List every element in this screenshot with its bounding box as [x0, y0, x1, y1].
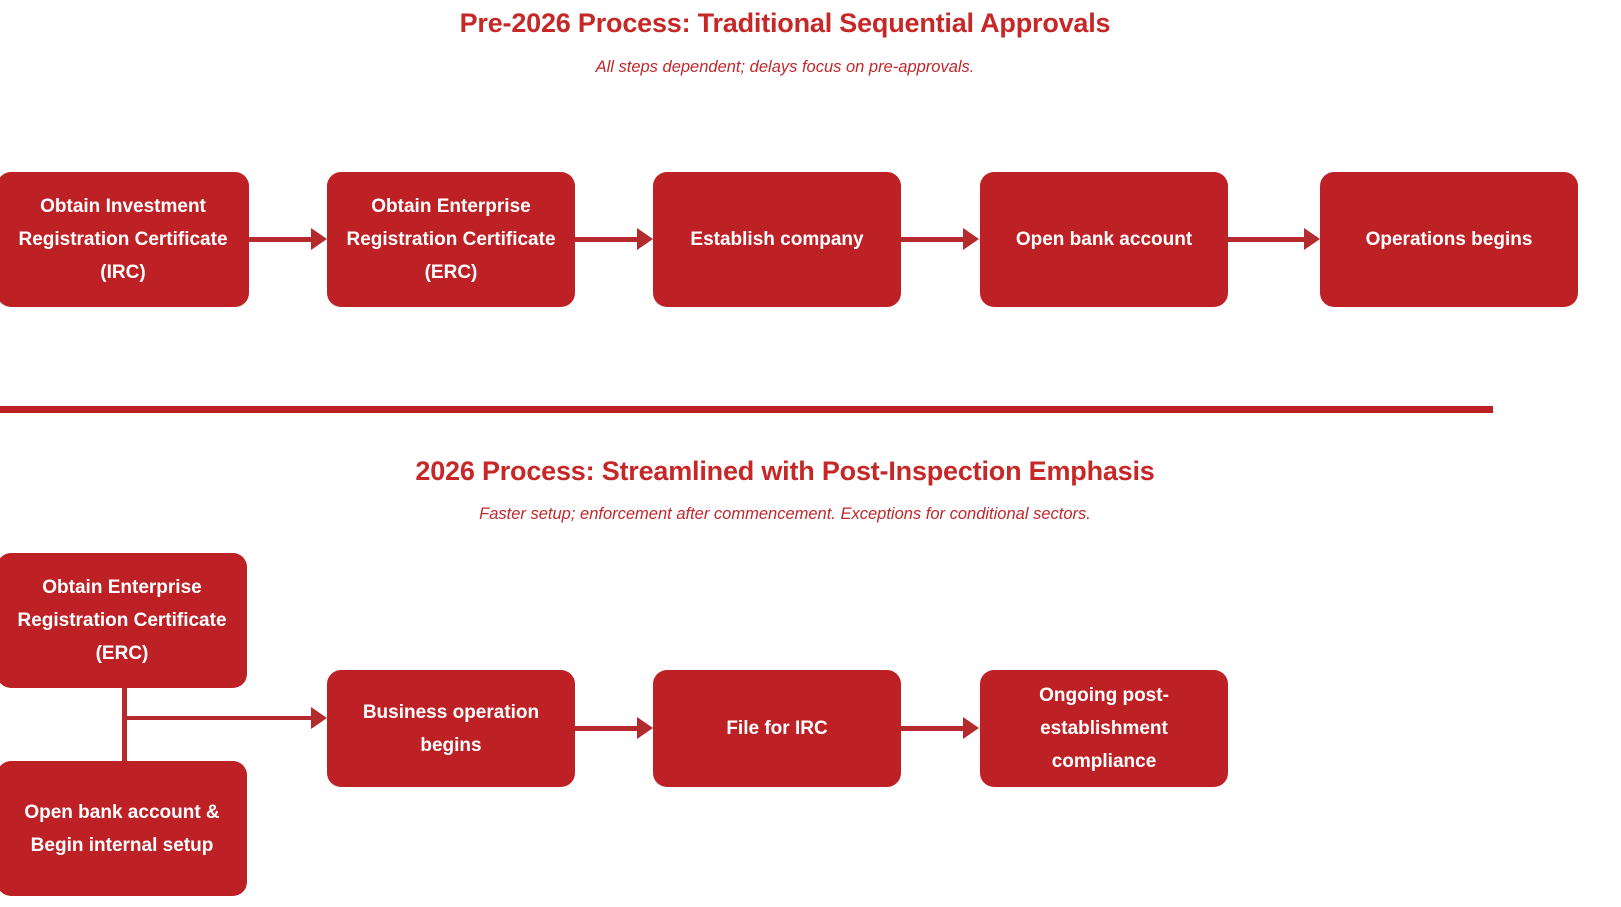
- edge-merge-to-business-operation: [122, 716, 313, 720]
- arrow-establish-to-bank-icon: [963, 228, 979, 250]
- section-1-subtitle: All steps dependent; delays focus on pre…: [0, 58, 1570, 77]
- arrow-business-to-file-irc-icon: [637, 717, 653, 739]
- edge-merge-spine: [122, 688, 127, 762]
- edge-establish-to-bank: [901, 237, 965, 242]
- section-2-title: 2026 Process: Streamlined with Post-Insp…: [0, 456, 1570, 487]
- node-obtain-irc[interactable]: Obtain Investment Registration Certifica…: [0, 172, 249, 307]
- edge-business-to-file-irc: [575, 726, 639, 731]
- arrow-merge-to-business-operation-icon: [311, 707, 327, 729]
- node-open-bank-account[interactable]: Open bank account: [980, 172, 1228, 307]
- edge-irc-to-erc: [249, 237, 313, 242]
- node-file-for-irc[interactable]: File for IRC: [653, 670, 901, 787]
- flowchart-canvas: Pre-2026 Process: Traditional Sequential…: [0, 0, 1621, 907]
- arrow-file-irc-to-compliance-icon: [963, 717, 979, 739]
- section-divider: [0, 406, 1493, 413]
- node-ongoing-compliance[interactable]: Ongoing post-establishment compliance: [980, 670, 1228, 787]
- section-1-title: Pre-2026 Process: Traditional Sequential…: [0, 8, 1570, 39]
- node-establish-company[interactable]: Establish company: [653, 172, 901, 307]
- node-operations-begins[interactable]: Operations begins: [1320, 172, 1578, 307]
- arrow-erc-to-establish-icon: [637, 228, 653, 250]
- node-business-operation-begins[interactable]: Business operation begins: [327, 670, 575, 787]
- node-obtain-erc[interactable]: Obtain Enterprise Registration Certifica…: [327, 172, 575, 307]
- edge-bank-to-operations: [1228, 237, 1306, 242]
- arrow-irc-to-erc-icon: [311, 228, 327, 250]
- edge-file-irc-to-compliance: [901, 726, 965, 731]
- node-obtain-erc-2026[interactable]: Obtain Enterprise Registration Certifica…: [0, 553, 247, 688]
- arrow-bank-to-operations-icon: [1304, 228, 1320, 250]
- edge-erc-to-establish: [575, 237, 639, 242]
- section-2-subtitle: Faster setup; enforcement after commence…: [0, 505, 1570, 524]
- node-open-bank-internal-setup[interactable]: Open bank account & Begin internal setup: [0, 761, 247, 896]
